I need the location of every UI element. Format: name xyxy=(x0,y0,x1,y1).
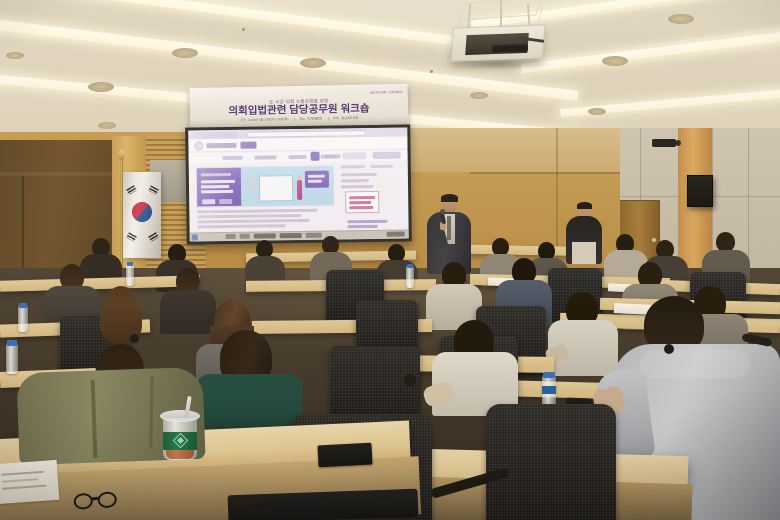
ceiling-sensor xyxy=(242,28,245,31)
bottle-cap xyxy=(543,372,555,378)
site-nav-item[interactable] xyxy=(289,155,307,159)
site-accent-button[interactable] xyxy=(311,152,320,161)
downlight xyxy=(588,108,606,115)
site-nav-item[interactable] xyxy=(325,154,337,158)
chair-foreground[interactable] xyxy=(486,404,616,520)
water-bottle xyxy=(6,344,18,374)
projected-website xyxy=(188,127,409,241)
site-nav-item[interactable] xyxy=(255,155,277,159)
water-bottle xyxy=(126,264,134,286)
taskbar-item[interactable] xyxy=(226,234,236,239)
assistant-paper xyxy=(572,242,596,264)
banner-corner-text: 경상북도의회 / 인재개발원 xyxy=(370,90,403,95)
site-login-button[interactable] xyxy=(343,152,367,159)
name-card xyxy=(0,460,59,504)
audience-body xyxy=(160,290,216,334)
downlight xyxy=(300,58,326,68)
conference-hall-photo: 도·시군 의회 소통강화를 위한 의회입법관련 담당공무원 워크숍 기간 : 2… xyxy=(0,0,780,520)
chair-wheel xyxy=(664,344,674,354)
speaker-hair xyxy=(441,194,458,202)
cup-dome-lid xyxy=(160,410,200,422)
chair-wheel xyxy=(130,334,139,343)
start-button[interactable] xyxy=(192,234,198,240)
speaker-tie xyxy=(447,216,451,240)
wall-speaker-small xyxy=(652,139,676,147)
site-nav-item[interactable] xyxy=(223,156,243,160)
hero-button[interactable] xyxy=(219,199,232,204)
bottle-cap xyxy=(19,303,27,308)
browser-tab[interactable] xyxy=(191,131,237,138)
banner-footer: 기간 : 2024년 9월 25일(수)~26일(목) 장소 : 인재개발원 주… xyxy=(240,117,358,122)
audience-head xyxy=(716,232,735,252)
korean-flag xyxy=(123,172,161,258)
ceiling-sensor xyxy=(430,70,433,73)
bottle-cap xyxy=(7,340,17,346)
taskbar-item[interactable] xyxy=(280,233,302,238)
water-bottle xyxy=(18,306,28,332)
projector-lens xyxy=(492,43,528,52)
downlight xyxy=(88,82,114,92)
laptop[interactable] xyxy=(228,489,419,520)
banner-footer-item: 기간 : 2024년 9월 25일(수)~26일(목) xyxy=(240,118,289,122)
assistant-hair xyxy=(577,202,592,209)
downlight xyxy=(98,122,116,129)
microphone-head xyxy=(440,209,445,214)
wall-speaker xyxy=(687,175,713,207)
sidebar-thumbnail[interactable] xyxy=(345,191,379,213)
projection-screen xyxy=(185,124,412,244)
site-logo-icon xyxy=(194,141,203,150)
taskbar-item[interactable] xyxy=(240,234,250,239)
bottle-label xyxy=(542,386,556,394)
banner-footer-item: 장소 : 인재개발원 xyxy=(294,118,322,122)
downlight xyxy=(6,52,24,59)
hero-badge xyxy=(305,171,329,188)
taskbar-item[interactable] xyxy=(254,233,276,238)
hero-banner xyxy=(196,166,335,208)
os-taskbar[interactable] xyxy=(190,229,409,241)
downlight xyxy=(668,14,694,24)
downlight xyxy=(470,92,488,99)
site-search-button[interactable] xyxy=(373,152,401,159)
banner-footer-item: 주최 : 경상북도의회 xyxy=(328,117,358,121)
flag-pole-finial xyxy=(118,150,125,160)
hero-button[interactable] xyxy=(202,199,215,204)
downlight xyxy=(602,56,628,66)
system-tray[interactable] xyxy=(387,232,405,237)
door-knob[interactable] xyxy=(652,238,656,242)
downlight xyxy=(172,48,198,58)
chair-wheel xyxy=(404,374,416,386)
taskbar-item[interactable] xyxy=(306,233,322,238)
eyeglasses xyxy=(73,490,119,516)
water-bottle xyxy=(406,266,414,288)
tablet-device[interactable] xyxy=(317,443,372,468)
sidebar-column xyxy=(339,164,408,231)
bottle-cap xyxy=(407,264,413,268)
bottle-cap xyxy=(127,262,133,266)
